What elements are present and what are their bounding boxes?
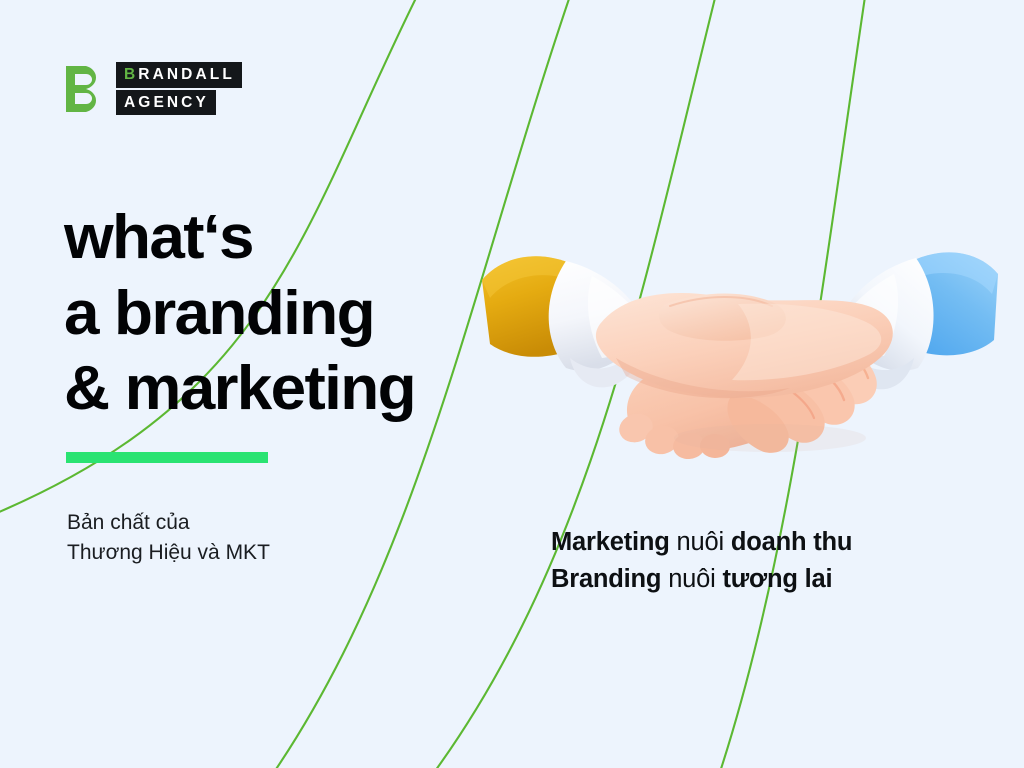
headline-line-2: a branding [64,276,415,352]
subtitle-line-2: Thương Hiệu và MKT [67,538,270,568]
page-title: what‘s a branding & marketing [64,200,405,427]
tagline-1-part-1: Marketing [551,528,670,556]
logo-wordmark: BRANDALL AGENCY [116,62,242,115]
tagline-line-1: Marketing nuôi doanh thu [551,524,852,561]
brandall-b-monogram-icon [64,64,106,114]
tagline-2-part-3: tương lai [723,565,833,593]
handshake-3d-illustration [470,232,1010,522]
slide-canvas: BRANDALL AGENCY [0,0,1024,768]
tagline-1-part-3: doanh thu [731,528,852,556]
logo-accent-letter: B [124,66,138,83]
logo-line-brandall: BRANDALL [116,62,242,88]
subtitle-line-1: Bản chất của [67,508,270,538]
tagline-line-2: Branding nuôi tương lai [551,561,852,598]
logo-line-agency: AGENCY [116,90,216,116]
headline-line-3: & marketing [64,351,415,427]
tagline: Marketing nuôi doanh thu Branding nuôi t… [551,524,852,598]
tagline-2-part-2: nuôi [661,565,722,593]
tagline-2-part-1: Branding [551,565,661,593]
subtitle: Bản chất của Thương Hiệu và MKT [67,508,270,568]
headline-line-1: what‘s [64,200,415,276]
brand-logo[interactable]: BRANDALL AGENCY [64,62,242,115]
tagline-1-part-2: nuôi [670,528,731,556]
accent-underline-rule [66,452,268,463]
logo-brandall-rest: RANDALL [138,66,235,83]
